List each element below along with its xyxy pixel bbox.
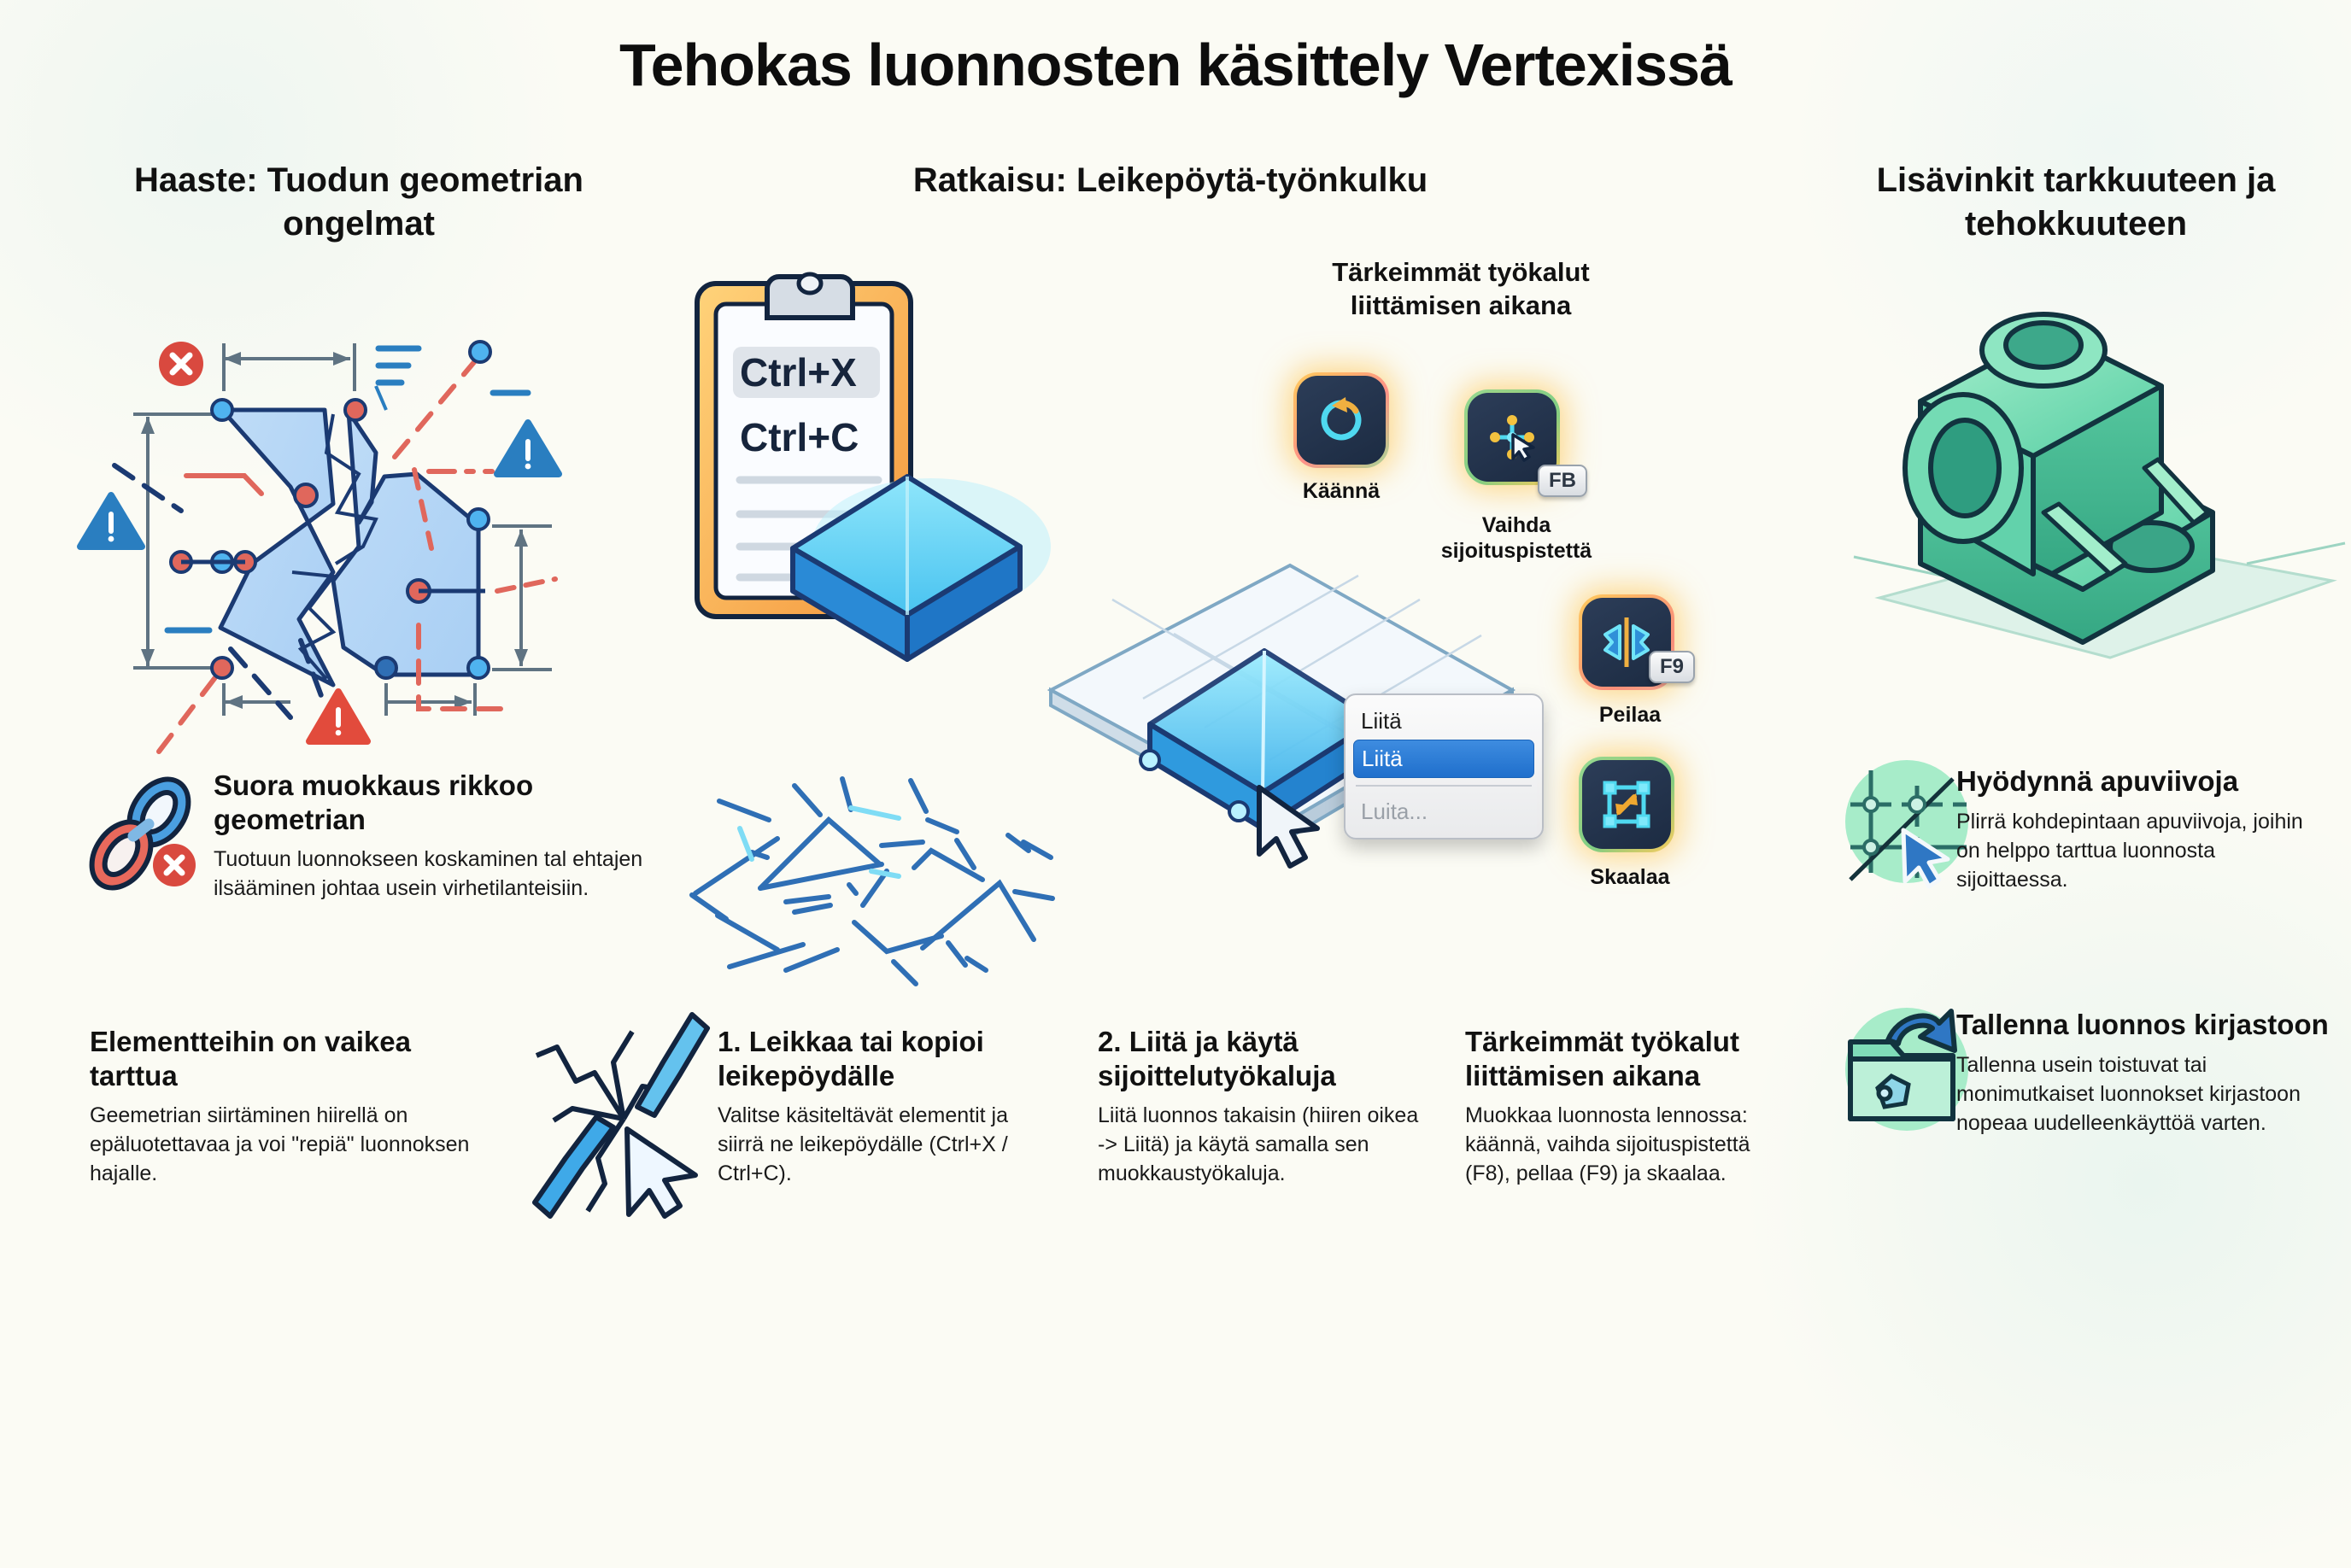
error-x-badge	[153, 844, 196, 886]
paste-context-menu[interactable]: Liitä Liitä Luita...	[1344, 693, 1544, 840]
block-body: Muokkaa luonnosta lennossa: käännä, vaih…	[1465, 1101, 1798, 1188]
menu-separator	[1356, 785, 1532, 787]
error-x-icon	[159, 342, 203, 386]
rotate-icon	[1313, 392, 1369, 448]
block-body: Valitse käsiteltävät elementit ja siirrä…	[718, 1101, 1059, 1188]
menu-item-disabled: Luita...	[1346, 793, 1542, 830]
tools-panel-heading: Tärkeimmät työkalut liittämisen aikana	[1281, 256, 1640, 323]
mirror-icon	[1597, 614, 1656, 670]
text-block-step1: 1. Leikkaa tai kopioi leikepöydälle Vali…	[718, 1025, 1059, 1188]
page-title: Tehokas luonnosten käsittely Vertexissä	[0, 31, 2351, 99]
shortcut-copy-text: Ctrl+C	[740, 415, 859, 459]
column-header-tips: Lisävinkit tarkkuuteen ja tehokkuuteen	[1811, 159, 2341, 246]
infographic-canvas: Tehokas luonnosten käsittely Vertexissä …	[0, 0, 2351, 1312]
broken-chain-icon	[85, 773, 214, 892]
menu-item-paste-selected[interactable]: Liitä	[1353, 740, 1534, 778]
warning-triangle-icon	[80, 495, 142, 547]
scale-icon	[1598, 776, 1655, 833]
keycap-f9: F9	[1649, 651, 1695, 683]
block-body: Liitä luonnos takaisin (hiiren oikea -> …	[1098, 1101, 1431, 1188]
broken-sketch-illustration	[77, 290, 607, 717]
text-block-direct-edit: Suora muokkaus rikkoo geometrian Tuotuun…	[214, 769, 666, 903]
text-block-step3: Tärkeimmät työkalut liittämisen aikana M…	[1465, 1025, 1798, 1188]
warning-triangle-red-icon	[309, 692, 367, 741]
shatter-cursor-icon	[513, 1008, 726, 1238]
column-header-solution: Ratkaisu: Leikepöytä-työnkulku	[820, 159, 1521, 202]
tool-label-placement-point: Vaihda sijoituspistettä	[1418, 512, 1615, 564]
text-block-step2: 2. Liitä ja käytä sijoittelutyökaluja Li…	[1098, 1025, 1431, 1188]
text-block-guidelines: Hyödynnä apuviivoja Plirrä kohdepintaan …	[1956, 764, 2324, 894]
block-body: Plirrä kohdepintaan apuviivoja, joihin o…	[1956, 807, 2324, 894]
block-body: Tallenna usein toistuvat tai monimutkais…	[1956, 1050, 2332, 1138]
block-title: 2. Liitä ja käytä sijoittelutyökaluja	[1098, 1025, 1431, 1092]
background-wash-bottom-right	[1719, 799, 2351, 1568]
isometric-green-part	[1854, 256, 2349, 683]
column-header-challenge: Haaste: Tuodun geometrian ongelmat	[94, 159, 624, 246]
warning-triangle-icon	[497, 423, 559, 474]
block-title: Tallenna luonnos kirjastoon	[1956, 1008, 2332, 1042]
tool-label-mirror: Peilaa	[1562, 702, 1698, 728]
block-body: Tuotuun luonnokseen koskaminen tal ehtaj…	[214, 845, 666, 903]
block-title: Suora muokkaus rikkoo geometrian	[214, 769, 666, 836]
tool-label-rotate: Käännä	[1273, 478, 1410, 504]
menu-item-paste[interactable]: Liitä	[1346, 703, 1542, 740]
text-block-hard-to-grab: Elementteihin on vaikea tarttua Geemetri…	[90, 1025, 474, 1188]
tool-tile[interactable]	[1297, 376, 1386, 465]
tool-tile[interactable]	[1582, 760, 1671, 849]
text-block-save-library: Tallenna luonnos kirjastoon Tallenna use…	[1956, 1008, 2332, 1138]
scattered-line-fragments	[666, 769, 1076, 1008]
shortcut-cut-text: Ctrl+X	[740, 350, 857, 395]
block-title: Tärkeimmät työkalut liittämisen aikana	[1465, 1025, 1798, 1092]
tool-label-scale: Skaalaa	[1562, 864, 1698, 890]
block-body: Geemetrian siirtäminen hiirellä on epälu…	[90, 1101, 474, 1188]
block-title: 1. Leikkaa tai kopioi leikepöydälle	[718, 1025, 1059, 1092]
block-title: Hyödynnä apuviivoja	[1956, 764, 2324, 799]
keycap-f8: FB	[1538, 465, 1587, 497]
placement-point-icon	[1484, 409, 1540, 465]
block-title: Elementteihin on vaikea tarttua	[90, 1025, 474, 1092]
